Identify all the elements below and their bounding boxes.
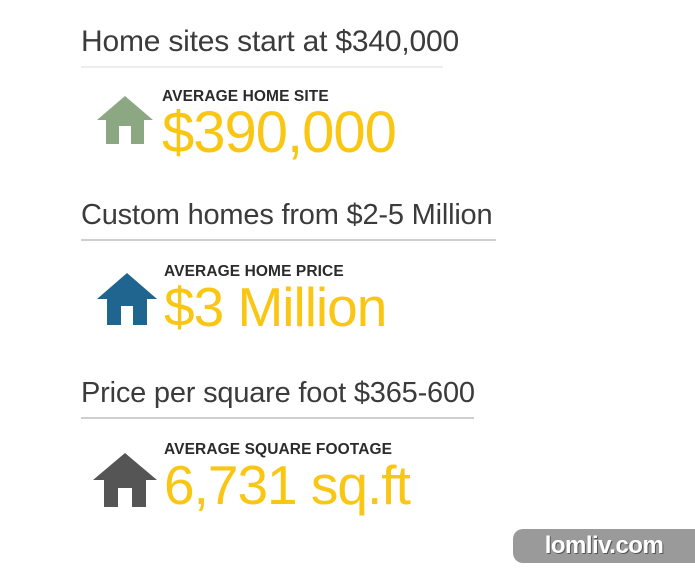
stat-row: AVERAGE HOME SITE $390,000: [0, 88, 695, 163]
section-divider: [81, 239, 496, 241]
watermark-label: lomliv.com: [545, 534, 664, 558]
section-divider: [81, 66, 443, 68]
house-icon: [96, 94, 154, 146]
stat-value: 6,731 sq.ft: [164, 456, 410, 514]
stat-section-home-sites: Home sites start at $340,000 AVERAGE HOM…: [0, 22, 695, 163]
real-estate-stats-infographic: Home sites start at $340,000 AVERAGE HOM…: [0, 0, 695, 569]
stat-row: AVERAGE HOME PRICE $3 Million: [0, 263, 695, 336]
section-headline: Home sites start at $340,000: [0, 22, 695, 66]
house-icon: [92, 451, 158, 509]
stat-text-group: AVERAGE HOME SITE $390,000: [162, 88, 396, 163]
stat-text-group: AVERAGE SQUARE FOOTAGE 6,731 sq.ft: [164, 441, 410, 514]
stat-text-group: AVERAGE HOME PRICE $3 Million: [164, 263, 386, 336]
stat-value: $3 Million: [164, 278, 386, 336]
house-icon: [96, 271, 158, 327]
stat-section-price-per-sqft: Price per square foot $365-600 AVERAGE S…: [0, 373, 695, 514]
watermark-badge: lomliv.com: [513, 529, 695, 563]
section-divider: [81, 417, 474, 419]
stat-row: AVERAGE SQUARE FOOTAGE 6,731 sq.ft: [0, 441, 695, 514]
stat-section-custom-homes: Custom homes from $2-5 Million AVERAGE H…: [0, 195, 695, 336]
section-headline: Custom homes from $2-5 Million: [0, 195, 695, 239]
stat-value: $390,000: [162, 103, 396, 163]
section-headline: Price per square foot $365-600: [0, 373, 695, 417]
